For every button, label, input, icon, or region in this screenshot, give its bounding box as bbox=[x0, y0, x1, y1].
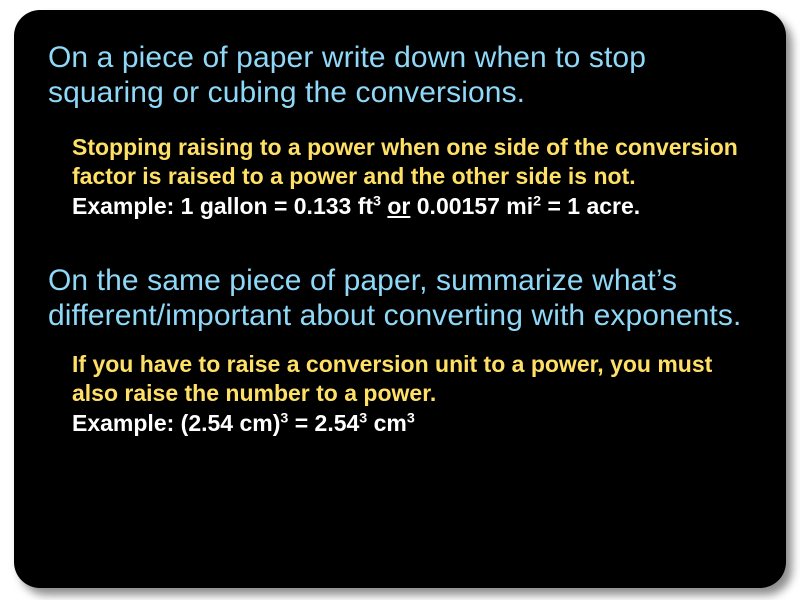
example-1-mid: 0.00157 mi bbox=[417, 193, 533, 219]
example-cm-cubed: Example: (2.54 cm)3 = 2.543 cm3 bbox=[48, 409, 752, 438]
heading-summarize-exponents: On the same piece of paper, summarize wh… bbox=[48, 263, 752, 334]
body-raise-conversion-unit: If you have to raise a conversion unit t… bbox=[48, 350, 752, 409]
example-1-sup-b: 2 bbox=[533, 193, 541, 209]
example-2-mid: = 2.54 bbox=[295, 410, 360, 436]
example-2-sup-b: 3 bbox=[359, 410, 367, 426]
example-1-suffix: = 1 acre. bbox=[547, 193, 640, 219]
example-2-sup-c: 3 bbox=[407, 410, 415, 426]
slide-content: On a piece of paper write down when to s… bbox=[14, 10, 786, 588]
section-spacer bbox=[48, 221, 752, 263]
example-1-sup-a: 3 bbox=[373, 193, 381, 209]
example-2-prefix: Example: (2.54 cm) bbox=[72, 410, 280, 436]
example-1-or: or bbox=[387, 193, 410, 219]
example-gallon-acre: Example: 1 gallon = 0.133 ft3 or 0.00157… bbox=[48, 192, 752, 221]
heading-stop-squaring: On a piece of paper write down when to s… bbox=[48, 40, 752, 111]
example-1-prefix: Example: 1 gallon = 0.133 ft bbox=[72, 193, 373, 219]
example-2-suffix: cm bbox=[374, 410, 407, 436]
body-stopping-raising: Stopping raising to a power when one sid… bbox=[48, 133, 752, 192]
example-2-sup-a: 3 bbox=[280, 410, 288, 426]
slide-canvas: On a piece of paper write down when to s… bbox=[14, 10, 786, 588]
